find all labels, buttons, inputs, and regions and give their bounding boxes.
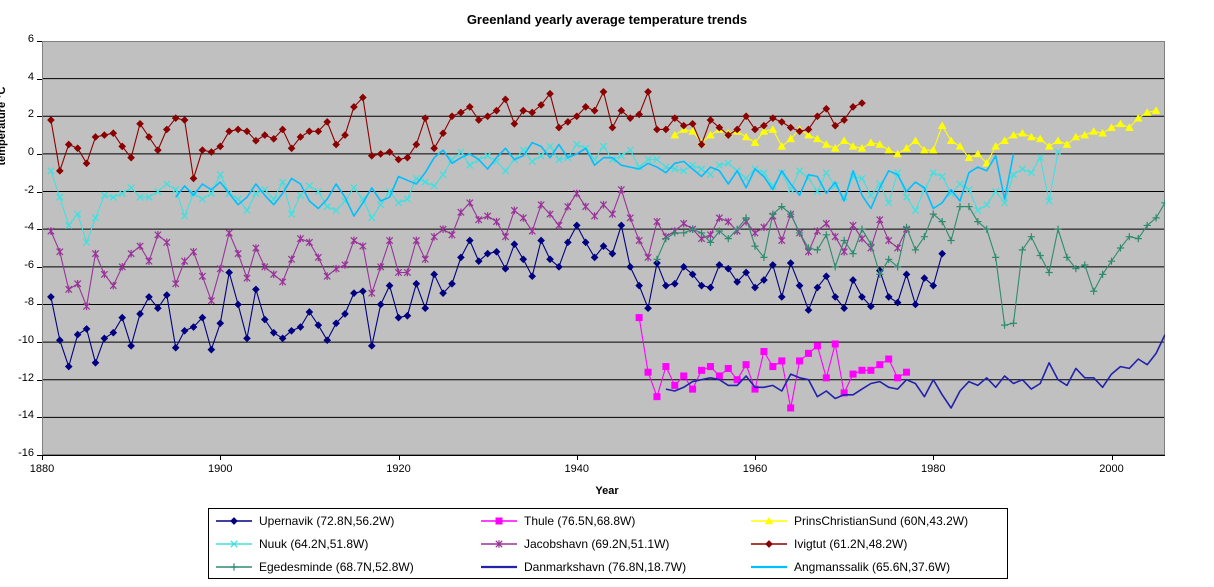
y-axis-title: temperature °C: [0, 66, 8, 186]
legend-label: Thule (76.5N,68.8W): [524, 514, 635, 528]
legend-marker-line-icon: [480, 561, 518, 573]
legend-item[interactable]: Jacobshavn (69.2N,51.1W): [474, 537, 744, 551]
x-axis-title: Year: [0, 485, 1214, 497]
legend-label: Ivigtut (61.2N,48.2W): [794, 537, 907, 551]
chart-container: Greenland yearly average temperature tre…: [0, 0, 1214, 587]
y-tick-label: -6: [0, 260, 34, 271]
legend-marker-x-icon: [215, 538, 253, 550]
plot-svg: [42, 41, 1165, 455]
chart-legend: Upernavik (72.8N,56.2W)Thule (76.5N,68.8…: [208, 508, 1008, 579]
legend-marker-square-icon: [480, 515, 518, 527]
series-1: [636, 314, 910, 411]
legend-label: Egedesminde (68.7N,52.8W): [259, 560, 414, 574]
legend-item[interactable]: Upernavik (72.8N,56.2W): [209, 514, 474, 528]
legend-marker-triangle-icon: [750, 515, 788, 527]
legend-label: Angmanssalik (65.6N,37.6W): [794, 560, 950, 574]
legend-label: PrinsChristianSund (60N,43.2W): [794, 514, 968, 528]
y-tick-label: 4: [0, 72, 34, 83]
y-tick-label: 2: [0, 109, 34, 120]
legend-marker-asterisk-icon: [480, 538, 518, 550]
x-tick-label: 1900: [185, 463, 255, 475]
chart-title: Greenland yearly average temperature tre…: [0, 12, 1214, 27]
legend-label: Danmarkshavn (76.8N,18.7W): [524, 560, 686, 574]
legend-marker-diamond-icon: [215, 515, 253, 527]
x-tick-label: 1980: [898, 463, 968, 475]
x-axis-line: [42, 455, 1165, 456]
x-tick-label: 1880: [7, 463, 77, 475]
legend-marker-plus-icon: [215, 561, 253, 573]
legend-item[interactable]: Nuuk (64.2N,51.8W): [209, 537, 474, 551]
x-tick-label: 1960: [720, 463, 790, 475]
legend-item[interactable]: Thule (76.5N,68.8W): [474, 514, 744, 528]
y-tick-label: -16: [0, 448, 34, 459]
legend-item[interactable]: PrinsChristianSund (60N,43.2W): [744, 514, 1009, 528]
y-tick-label: -4: [0, 222, 34, 233]
series-7: [666, 335, 1165, 408]
legend-marker-line-icon: [750, 561, 788, 573]
legend-item[interactable]: Ivigtut (61.2N,48.2W): [744, 537, 1009, 551]
x-tick-label: 1920: [364, 463, 434, 475]
legend-marker-diamond-icon: [750, 538, 788, 550]
legend-item[interactable]: Angmanssalik (65.6N,37.6W): [744, 560, 1009, 574]
y-tick-label: -2: [0, 185, 34, 196]
y-tick-label: 6: [0, 34, 34, 45]
y-tick-label: -10: [0, 335, 34, 346]
legend-item[interactable]: Danmarkshavn (76.8N,18.7W): [474, 560, 744, 574]
plot-area: [42, 41, 1165, 455]
legend-item[interactable]: Egedesminde (68.7N,52.8W): [209, 560, 474, 574]
y-tick-label: 0: [0, 147, 34, 158]
series-0: [48, 222, 946, 370]
legend-label: Nuuk (64.2N,51.8W): [259, 537, 368, 551]
series-6: [653, 184, 1165, 329]
x-tick-label: 2000: [1077, 463, 1147, 475]
y-tick-label: -12: [0, 373, 34, 384]
y-tick-label: -8: [0, 297, 34, 308]
legend-label: Jacobshavn (69.2N,51.1W): [524, 537, 669, 551]
legend-label: Upernavik (72.8N,56.2W): [259, 514, 394, 528]
x-tick-label: 1940: [542, 463, 612, 475]
y-tick-label: -14: [0, 410, 34, 421]
